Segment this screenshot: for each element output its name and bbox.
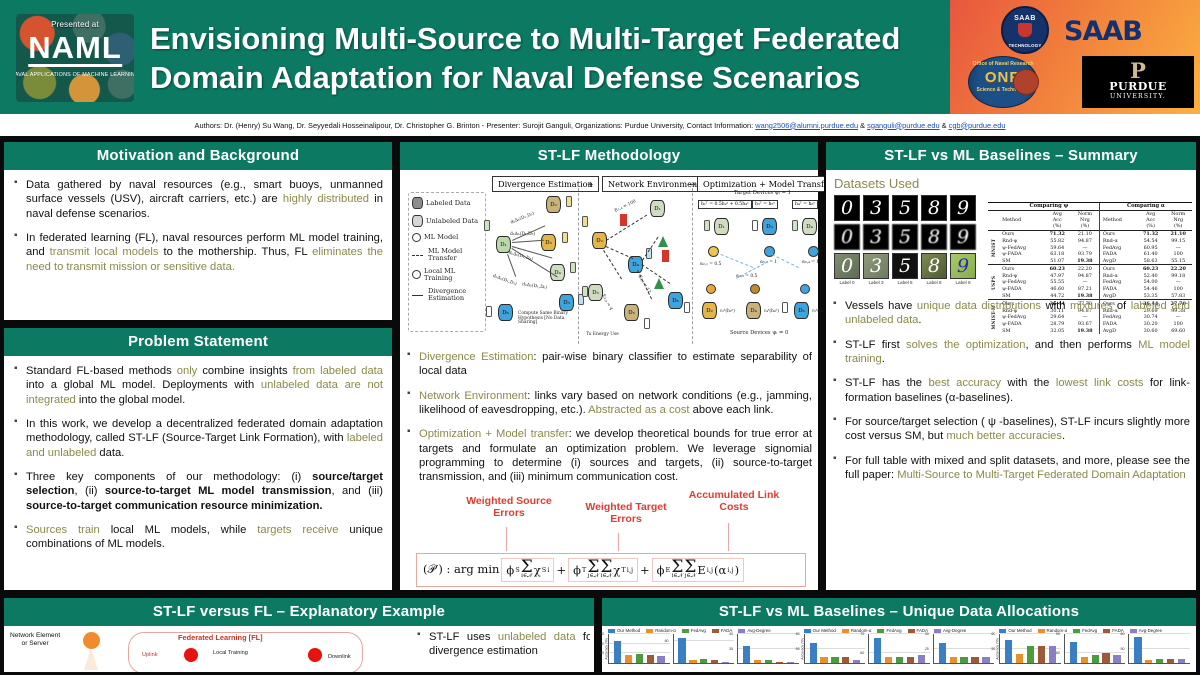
legend-labeled-data: Labeled Data	[426, 200, 471, 207]
table-row: ψ-FADA63.1893.79FADA61.40100	[988, 251, 1192, 258]
mini-chart: 60	[673, 634, 735, 664]
datasets-used-title: Datasets Used	[834, 176, 1190, 191]
bar	[711, 660, 718, 663]
email-link-1[interactable]: wang2506@alumni.purdue.edu	[755, 121, 858, 130]
group-header-psi: Comparing ψ	[999, 203, 1099, 211]
fl-uplink-label: Uplink	[142, 652, 158, 658]
y-tick-label: 60	[860, 651, 864, 655]
highlight-text: Multi-Source to Multi-Target Federated D…	[897, 469, 1186, 481]
server-broadcast-cone-icon	[84, 648, 98, 670]
highlight-text: only	[177, 365, 198, 377]
fl-node-icon	[308, 648, 322, 662]
fig-node-d2: D₂	[546, 196, 561, 213]
body-text: .	[882, 353, 885, 365]
page-title: Envisioning Multi-Source to Multi-Target…	[150, 20, 960, 98]
stage-label-divergence: Divergence Estimation	[492, 176, 599, 192]
methodology-figure: Divergence Estimation Network Environmen…	[406, 174, 812, 346]
bar	[743, 646, 750, 663]
fig-net-node-d5: D₅	[624, 304, 639, 321]
column-header: NormNrg(%)	[1071, 210, 1099, 230]
body-text: , and then performs	[1025, 339, 1138, 351]
amp-2: &	[940, 121, 949, 130]
mini-chart: 2530	[933, 634, 995, 664]
cell-method-psi: Ours	[999, 230, 1043, 237]
cell-method-alpha: Ours	[1099, 265, 1137, 272]
cell-method-alpha: FedAvg	[1099, 244, 1137, 251]
formula-t3-sup: E	[666, 566, 671, 574]
fig-hypothesis-3: h₄ᵀ = h₆ˢ	[792, 200, 818, 209]
author-text: Authors: Dr. (Henry) Su Wang, Dr. Seyyed…	[195, 121, 1006, 130]
highlight-text: from labeled data	[293, 365, 383, 377]
bar	[939, 643, 946, 663]
fig-note-no-data-sharing: Compute Same Binary Hypothesis [No Data …	[518, 312, 570, 326]
cell-method-psi: ψ-FADA	[999, 286, 1043, 293]
cell-nrg-psi: —	[1071, 279, 1099, 286]
column-header: AvgAcc(%)	[1043, 210, 1071, 230]
divergence-estimation-icon	[412, 291, 425, 299]
formula-t3-coef: ϕ	[657, 563, 665, 577]
bold-text: source-to-target communication resource …	[26, 500, 323, 512]
cell-nrg-alpha: 22.20	[1164, 265, 1192, 272]
bullet-item: For source/target selection ( ψ -baselin…	[832, 415, 1190, 444]
cell-nrg-alpha: 100	[1164, 286, 1192, 293]
formula-t3-sumsub-2: j∈𝒩	[684, 574, 696, 580]
bullet-item: ST-LF first solves the optimization, and…	[832, 338, 1190, 367]
fig-alpha-1: α₂,₁ = 0.5	[700, 262, 721, 267]
cell-method-psi: ψ-FedAvg	[999, 244, 1043, 251]
bar	[1070, 642, 1077, 663]
purdue-university-text: UNIVERSITY.	[1082, 93, 1194, 100]
cell-acc-psi: 32.05	[1043, 328, 1071, 335]
highlight-text: mixtures	[1070, 300, 1112, 312]
formula-t1-sumsub: i∈𝒩	[521, 574, 533, 580]
bar	[810, 643, 817, 663]
formula-t3-arg: (α	[714, 563, 726, 577]
email-link-2[interactable]: sganguli@purdue.edu	[867, 121, 939, 130]
cell-method-psi: Rnd-ψ	[999, 272, 1043, 279]
fig-net-node-d1: D₁	[650, 200, 665, 217]
bar	[853, 660, 860, 663]
ml-model-transfer-icon	[412, 251, 425, 259]
legend-swatch	[682, 629, 689, 633]
formula-term-links: ϕE Σi∈𝒩 Σj∈𝒩 Ei,j(αi,j)	[652, 558, 744, 582]
formula-t3-argsub: i,j	[727, 566, 733, 574]
bar	[754, 660, 761, 663]
allocations-charts: Our MethodRandom-αFedAvgFADAAvg-Degree60…	[606, 627, 1192, 671]
bar	[1005, 640, 1012, 663]
table-row: SM51.0719.38AvgD58.6355.15	[988, 258, 1192, 265]
legend-ml-transfer: ML Model Transfer	[428, 248, 482, 262]
problem-title: Problem Statement	[4, 328, 392, 356]
bar	[950, 657, 957, 663]
example-bullets: ST-LF uses unlabeled data for divergence…	[416, 630, 590, 669]
bar	[885, 657, 892, 663]
bar	[971, 657, 978, 663]
mini-chart: 6070	[868, 634, 930, 664]
bar	[647, 655, 654, 663]
column-header: Method	[999, 210, 1043, 230]
cell-acc-alpha: 54.54	[1137, 237, 1165, 244]
legend-swatch	[1038, 629, 1045, 633]
column-header: Method	[1099, 210, 1137, 230]
y-tick-label: 60	[600, 651, 604, 655]
y-tick-label: 60	[665, 639, 669, 643]
fig-source-caption: Source Devices ψᵢ = 0	[730, 330, 788, 336]
bar	[874, 638, 881, 663]
y-axis-label: Accuracy (%)	[996, 638, 1000, 659]
formula-t2-coef: ϕ	[573, 563, 581, 577]
bar	[722, 662, 729, 663]
y-tick-label: 80	[1056, 651, 1060, 655]
legend-swatch	[842, 629, 849, 633]
cell-acc-psi: 47.97	[1043, 272, 1071, 279]
cell-acc-alpha: 54.46	[1137, 286, 1165, 293]
summary-bullets: Vessels have unique data distributions w…	[832, 299, 1190, 482]
poster-root: Presented at NAML NAVAL APPLICATIONS OF …	[0, 0, 1200, 675]
body-text: ST-LF first	[845, 339, 906, 351]
cell-nrg-psi: 19.38	[1071, 328, 1099, 335]
digit-cell: 3	[863, 253, 889, 279]
body-text: of	[1112, 300, 1130, 312]
legend-ml-model: ML Model	[424, 234, 458, 241]
body-text: .	[918, 314, 921, 326]
cell-nrg-alpha: 100	[1164, 251, 1192, 258]
gridline	[934, 633, 995, 634]
gridline	[805, 633, 866, 634]
onr-top-text: Office of Naval Research	[969, 61, 1037, 67]
bar	[1145, 660, 1152, 663]
annotation-source-errors: Weighted Source Errors	[454, 495, 564, 519]
highlight-text: lowest link costs	[1056, 377, 1144, 389]
bullet-item: For full table with mixed and split data…	[832, 454, 1190, 483]
fig-loss-2: ℓ₄ˢ(h₄ˢ)	[764, 308, 779, 314]
table-group-header: Comparing ψComparing α	[988, 203, 1192, 211]
legend-swatch	[608, 629, 615, 633]
y-tick-label: 60	[991, 632, 995, 636]
formula-plus-2: +	[640, 563, 650, 577]
body-text: In this work, we develop a decentralized…	[26, 418, 383, 444]
cell-nrg-psi: 22.20	[1071, 265, 1099, 272]
mini-chart: 8090	[1064, 634, 1126, 664]
y-tick-label: 60	[1120, 632, 1124, 636]
table-row: Rnd-ψ47.9794.87Rnd-α52.4099.18	[988, 272, 1192, 279]
cell-acc-psi: 55.82	[1043, 237, 1071, 244]
highlight-text: Sources train	[26, 524, 100, 536]
chart-group: Our MethodRandom-αFedAvgFADAAvg-Degree55…	[999, 628, 1190, 671]
highlight-text: much better accuracies	[946, 430, 1062, 442]
formula-t2-sup: T	[582, 566, 586, 574]
gridline	[738, 633, 799, 634]
cell-method-alpha: AvgD	[1099, 258, 1137, 265]
formula-t1-sup: S	[515, 566, 520, 574]
column-header: NormNrg(%)	[1164, 210, 1192, 230]
formula-t2-sumsub-2: i∈𝒩	[600, 574, 612, 580]
spacer-cell	[988, 203, 999, 211]
naml-subtitle: NAVAL APPLICATIONS OF MACHINE LEARNING	[16, 72, 134, 78]
fig-energy-label-1: E₂,₄ = 100	[614, 199, 637, 214]
body-text: with the	[1001, 377, 1056, 389]
fig-node-d5: D₅	[559, 294, 574, 311]
cell-acc-psi: 55.55	[1043, 279, 1071, 286]
cell-method-alpha: Ours	[1099, 230, 1137, 237]
annotation-link-costs: Accumulated Link Costs	[684, 489, 784, 513]
column-header: AvgAcc(%)	[1137, 210, 1165, 230]
table-row: Rnd-ψ55.8294.87Rnd-α54.5499.15	[988, 237, 1192, 244]
highlight-text: unlabeled data	[498, 631, 576, 643]
fig-net-node-d6: D₆	[668, 292, 683, 309]
bar	[1102, 653, 1109, 663]
legend-swatch	[908, 629, 915, 633]
fig-note-tx-energy: Tx Energy Use	[586, 332, 619, 337]
dataset-label: Label 3	[863, 280, 889, 285]
legend-swatch	[1130, 629, 1137, 633]
y-tick-label: 25	[925, 647, 929, 651]
dataset-row-label: USPS	[988, 265, 999, 300]
dataset-label: Label 5	[892, 280, 918, 285]
highlight-text: Optimization + Model transfer	[419, 428, 569, 440]
panel-motivation: Motivation and Background Data gathered …	[2, 140, 394, 322]
fig-loss-1: ℓ₂ˢ(h₂ˢ)	[720, 308, 735, 314]
body-text: Three key components of our methodology:…	[26, 471, 312, 483]
fig-divergence-label-1: dₕ∆ₕ(D₁,D₂)	[510, 211, 535, 225]
digit-cell: 3	[863, 195, 889, 221]
panel-example: ST-LF versus FL – Explanatory Example Ne…	[2, 596, 596, 674]
digit-cell: 0	[834, 224, 860, 250]
bar	[636, 654, 643, 663]
body-text: Vessels have	[845, 300, 917, 312]
body-text: local ML models, while	[100, 524, 258, 536]
cell-method-psi: SM	[999, 328, 1043, 335]
allocations-title: ST-LF vs ML Baselines – Unique Data Allo…	[602, 598, 1196, 626]
bar	[842, 657, 849, 663]
cell-nrg-psi: 21.10	[1071, 230, 1099, 237]
cell-nrg-alpha: 55.15	[1164, 258, 1192, 265]
highlight-text: highly distributed	[283, 193, 369, 205]
highlight-text: transmit local models	[50, 246, 159, 258]
bar	[689, 660, 696, 663]
bar	[657, 656, 664, 663]
cell-nrg-alpha: 69.60	[1164, 328, 1192, 335]
digit-cell: 9	[950, 253, 976, 279]
group-header-alpha: Comparing α	[1099, 203, 1192, 211]
y-tick-label: 80	[600, 632, 604, 636]
fig-target-node-d3: D₃	[762, 218, 777, 235]
cell-nrg-psi: 94.87	[1071, 272, 1099, 279]
bar	[1092, 655, 1099, 663]
labeled-data-icon	[412, 197, 423, 209]
purdue-logo: P PURDUE UNIVERSITY.	[1082, 56, 1194, 108]
panel-allocations: ST-LF vs ML Baselines – Unique Data Allo…	[600, 596, 1198, 674]
bar	[1027, 646, 1034, 663]
saab-badge-top-text: SAAB	[1003, 15, 1047, 22]
y-tick-label: 55	[796, 647, 800, 651]
legend-swatch	[646, 629, 653, 633]
objective-formula: (𝒫′) : arg min ϕS Σi∈𝒩 χSi + ϕT Σj∈𝒩 Σi∈…	[416, 553, 806, 587]
fig-divergence-label-2: dₕ∆ₕ(D₁,D₃)	[510, 232, 535, 237]
cell-acc-alpha: 71.32	[1137, 230, 1165, 237]
y-axis-label: Accuracy (%)	[800, 638, 804, 659]
mini-chart: 3540	[737, 634, 799, 664]
cell-acc-psi: 63.18	[1043, 251, 1071, 258]
mini-chart-set: 5560Accuracy (%)60702530	[804, 634, 995, 664]
server-node-icon	[83, 632, 100, 649]
cell-nrg-psi: —	[1071, 244, 1099, 251]
legend-swatch	[999, 629, 1006, 633]
bar	[918, 655, 925, 663]
fig-target-caption: Target Devices ψᵢ = 1	[734, 190, 791, 196]
cell-acc-psi: 60.23	[1043, 265, 1071, 272]
bar	[625, 655, 632, 663]
dataset-label: Label 8	[921, 280, 947, 285]
local-training-icon	[412, 270, 421, 279]
formula-t2-sumsub-1: j∈𝒩	[587, 574, 599, 580]
bar	[960, 657, 967, 663]
digit-cell: 0	[834, 253, 860, 279]
saab-crown-icon	[1018, 23, 1032, 37]
bar	[787, 662, 794, 663]
y-tick-label: 70	[600, 642, 604, 646]
cell-acc-psi: 71.32	[1043, 230, 1071, 237]
bar	[1156, 659, 1163, 663]
fig-divergence-label-5: dₕ∆ₕ(D₁,D₆)	[522, 282, 548, 290]
bar	[614, 641, 621, 663]
fl-node-icon	[184, 648, 198, 662]
bar	[896, 657, 903, 663]
fig-node-d6: D₆	[498, 304, 513, 321]
digit-cell: 0	[834, 195, 860, 221]
table-row: ψ-FedAvg59.64—FedAvg60.95—	[988, 244, 1192, 251]
poster-header: Presented at NAML NAVAL APPLICATIONS OF …	[0, 0, 1200, 114]
fig-hypothesis-2: h₃ᵀ = h₅ˢ	[752, 200, 778, 209]
gridline	[1065, 633, 1126, 634]
dataset-row-label: MNIST	[988, 230, 999, 265]
bullet-item: Three key components of our methodology:…	[13, 470, 383, 513]
body-text: ST-LF uses	[429, 631, 498, 643]
gridline	[1129, 633, 1190, 634]
bullet-item: Vessels have unique data distributions w…	[832, 299, 1190, 328]
bold-text: source-to-target ML model transmission	[105, 485, 332, 497]
mini-chart: 5060	[1128, 634, 1190, 664]
network-element-label: Network Element or Server	[10, 632, 60, 648]
problem-bullets: Standard FL-based methods only combine i…	[13, 364, 383, 552]
motivation-title: Motivation and Background	[4, 142, 392, 170]
bullet-item: Network Environment: links vary based on…	[406, 389, 812, 418]
figure-legend: Labeled Data Unlabeled Data ML Model ML …	[408, 192, 486, 332]
table-row: MNISTOurs71.3221.10Ours71.3221.10	[988, 230, 1192, 237]
spacer-cell	[988, 210, 999, 230]
email-link-3[interactable]: cgb@purdue.edu	[949, 121, 1006, 130]
highlight-text: Network Environment	[419, 390, 527, 402]
cell-acc-alpha: 60.23	[1137, 265, 1165, 272]
y-axis-label: Accuracy (%)	[605, 638, 609, 659]
unlabeled-data-icon	[412, 215, 423, 227]
highlight-text: Divergence Estimation	[419, 351, 533, 363]
legend-swatch	[1103, 629, 1110, 633]
fig-energy-label-3: E₃,₄ = 4	[600, 294, 613, 312]
bar	[1113, 655, 1120, 663]
cell-nrg-alpha: 99.18	[1164, 272, 1192, 279]
bar	[700, 659, 707, 663]
legend-swatch	[804, 629, 811, 633]
cell-acc-alpha: 60.95	[1137, 244, 1165, 251]
panel-methodology: ST-LF Methodology Divergence Estimation …	[398, 140, 820, 592]
formula-plus-1: +	[556, 563, 566, 577]
bar	[678, 638, 685, 663]
bullet-item: Data gathered by naval resources (e.g., …	[13, 178, 383, 221]
legend-unlabeled-data: Unlabeled Data	[426, 218, 478, 225]
formula-term-target: ϕT Σj∈𝒩 Σi∈𝒩 χTi,j	[568, 558, 638, 582]
cell-acc-alpha: 30.60	[1137, 328, 1165, 335]
cell-acc-alpha: 58.63	[1137, 258, 1165, 265]
y-tick-label: 60	[796, 632, 800, 636]
formula-t1-varsub: i	[547, 566, 549, 574]
bar	[1016, 654, 1023, 663]
bullet-item: ST-LF uses unlabeled data for divergence…	[416, 630, 590, 659]
onr-logo: Office of Naval Research ONR Science & T…	[968, 56, 1038, 108]
mini-chart: 5560Accuracy (%)	[804, 634, 866, 664]
saab-badge-icon: SAAB TECHNOLOGY	[1001, 6, 1049, 54]
digit-cell: 3	[863, 224, 889, 250]
formula-t3-var: E	[697, 563, 705, 577]
naml-logo: Presented at NAML NAVAL APPLICATIONS OF …	[16, 14, 134, 102]
fig-target-node-d1: D₁	[714, 218, 729, 235]
legend-local-training: Local ML Training	[424, 268, 482, 282]
y-tick-label: 40	[729, 632, 733, 636]
naml-acronym: NAML	[28, 32, 122, 67]
mini-chart: 5560Accuracy (%)	[999, 634, 1061, 664]
cell-acc-psi: 46.60	[1043, 286, 1071, 293]
fig-source-node-d4: D₄	[746, 302, 761, 319]
cell-nrg-psi: 19.38	[1071, 258, 1099, 265]
ml-model-icon	[412, 233, 421, 242]
highlight-text: targets receive	[257, 524, 338, 536]
cell-method-alpha: Rnd-α	[1099, 237, 1137, 244]
formula-t1-varsup: S	[542, 566, 547, 574]
bullet-item: In federated learning (FL), naval resour…	[13, 231, 383, 274]
bullet-item: ST-LF has the best accuracy with the low…	[832, 376, 1190, 405]
formula-t3-sumsub-1: i∈𝒩	[671, 574, 683, 580]
body-text: above each link.	[690, 404, 774, 416]
dataset-label: Label 9	[950, 280, 976, 285]
digit-cell: 9	[950, 224, 976, 250]
digit-cell: 8	[921, 224, 947, 250]
naml-presented-at: Presented at	[51, 20, 99, 29]
formula-t1-coef: ϕ	[506, 563, 514, 577]
highlight-text: solves the optimization	[906, 339, 1025, 351]
fig-source-node-d2: D₂	[702, 302, 717, 319]
digit-cell: 5	[892, 253, 918, 279]
bullet-item: Divergence Estimation: pair-wise binary …	[406, 350, 812, 379]
saab-badge-bottom-text: TECHNOLOGY	[1003, 43, 1047, 48]
legend-swatch	[712, 629, 719, 633]
legend-entry: FedAvg	[682, 628, 706, 633]
formula-t1-var: χ	[534, 563, 541, 577]
y-tick-label: 30	[925, 632, 929, 636]
bullet-item: In this work, we develop a decentralized…	[13, 417, 383, 460]
bar	[1134, 637, 1141, 663]
fl-local-training-label: Local Training	[213, 650, 248, 656]
gridline	[609, 633, 670, 634]
table-row: ψ-FADA46.6087.21FADA54.46100	[988, 286, 1192, 293]
cell-method-alpha: Rnd-α	[1099, 272, 1137, 279]
formula-term-source: ϕS Σi∈𝒩 χSi	[501, 558, 554, 582]
body-text: with	[1041, 300, 1070, 312]
body-text: into a global ML model. Deployments with	[26, 379, 261, 391]
cell-method-alpha: FADA	[1099, 251, 1137, 258]
summary-title: ST-LF vs ML Baselines – Summary	[826, 142, 1196, 170]
stage-divider-1-icon: +	[587, 180, 594, 189]
saab-wordmark: SAAB	[1064, 16, 1142, 47]
